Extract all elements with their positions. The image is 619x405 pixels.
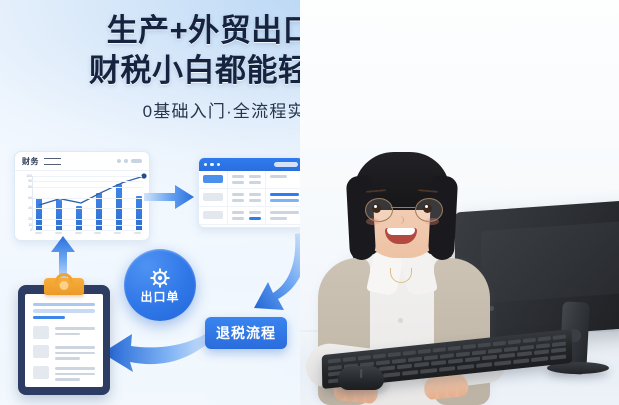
y-tick-label: 10 [21, 223, 32, 227]
dot-icon [117, 159, 121, 163]
paper-line [55, 367, 95, 370]
paper-line [55, 327, 95, 330]
keyboard-key [482, 355, 497, 361]
chart-plot: 0102040608090100 [32, 176, 144, 230]
text-line [232, 181, 244, 184]
keyboard-key [373, 353, 386, 358]
gear-target-icon [149, 267, 171, 289]
y-tick-label: 0 [21, 228, 32, 232]
keyboard-key [392, 358, 406, 364]
keyboard-key [478, 342, 491, 347]
x-tick [55, 232, 62, 234]
grid-line [33, 208, 142, 209]
keyboard-key [408, 356, 422, 362]
hamburger-rule-icon [44, 158, 61, 165]
chart-card-header: 财务 [15, 152, 149, 171]
paper-progress-line [33, 316, 65, 319]
keyboard-key [433, 347, 446, 352]
table-cell [228, 189, 266, 207]
text-line [232, 175, 244, 178]
text-line [249, 181, 261, 184]
keyboard-key [328, 358, 341, 363]
keyboard-key [397, 364, 412, 370]
clipboard-paper [25, 294, 103, 387]
keyboard-key [534, 350, 549, 356]
keyboard-key [418, 349, 431, 354]
teeth [387, 228, 415, 235]
paper-line [55, 333, 80, 336]
placeholder-chip [203, 193, 223, 201]
grid-line [33, 219, 142, 220]
text-line [270, 217, 288, 220]
browser-table-grid [199, 171, 303, 225]
paper-text-block [55, 345, 95, 360]
keyboard-key [550, 354, 567, 360]
paper-line [55, 352, 95, 355]
grid-line [33, 230, 142, 231]
keyboard-key [531, 356, 548, 362]
chart-plot-area: 0102040608090100 [15, 171, 149, 241]
poster-canvas: 生产+外贸出口退税实战课程, 财税小白都能轻松掌握退税技能 0基础入门·全流程实… [0, 0, 619, 405]
grid-line [33, 225, 142, 226]
keyboard-key [494, 360, 511, 366]
table-cell [266, 207, 304, 225]
finance-chart-card[interactable]: 财务 0102040608090100 [14, 151, 150, 241]
keyboard-key [520, 345, 534, 351]
keyboard-key [552, 341, 566, 347]
paper-line [55, 357, 80, 360]
shirt-button [398, 318, 403, 323]
grid-line [33, 181, 142, 182]
keyboard-key [328, 365, 342, 371]
tax-refund-process-button[interactable]: 退税流程 [205, 317, 287, 349]
grid-line [33, 176, 142, 177]
dot-icon [124, 159, 128, 163]
monitor-inset-panel [481, 221, 619, 303]
keyboard-key [553, 335, 566, 340]
browser-window-card[interactable] [198, 157, 304, 228]
traffic-light-icon [204, 163, 207, 166]
grid-line [33, 198, 142, 199]
table-cell [199, 171, 228, 189]
glasses-bridge [391, 207, 415, 208]
keyboard-key [465, 357, 480, 363]
table-cell [228, 171, 266, 189]
grid-line [33, 187, 142, 188]
bar-dot-icon [131, 159, 142, 163]
eye-left [372, 204, 381, 213]
keyboard-key [343, 357, 356, 362]
paper-thumb [33, 366, 49, 379]
keyboard-key [493, 341, 506, 346]
arrow-curve-left-icon [100, 328, 222, 374]
text-line [232, 199, 244, 202]
y-tick-label: 20 [21, 217, 32, 221]
x-tick [75, 232, 82, 234]
y-tick-label: 80 [21, 185, 32, 189]
keyboard-key [440, 353, 454, 359]
keyboard-key [448, 346, 461, 351]
x-tick [134, 232, 141, 234]
chart-card-status-dots [117, 159, 142, 163]
arrow-right-icon [143, 182, 195, 212]
chart-card-title: 财务 [22, 156, 39, 167]
keyboard-key [384, 372, 401, 378]
keyboard-key [402, 370, 419, 376]
keyboard-key [488, 348, 502, 354]
keyboard-key [508, 339, 521, 344]
text-line [249, 199, 261, 202]
highlight-line [270, 199, 300, 202]
table-cell [199, 207, 228, 225]
paper-line [33, 309, 95, 312]
highlight-line [270, 193, 300, 196]
keyboard-key [499, 353, 514, 359]
paper-line [33, 303, 95, 306]
table-cell [228, 207, 266, 225]
table-cell [199, 189, 228, 207]
keyboard-key [358, 355, 371, 360]
paper-thumb [33, 345, 49, 358]
keyboard-key [439, 366, 456, 372]
text-line [249, 193, 261, 196]
keyboard-key [476, 362, 493, 368]
text-line [249, 211, 261, 214]
traffic-light-icon [217, 163, 220, 166]
keyboard-key [388, 352, 401, 357]
text-line [232, 211, 244, 214]
paper-row [33, 366, 95, 381]
eye-right [423, 204, 432, 213]
keyboard-key [551, 348, 566, 354]
x-tick [114, 232, 121, 234]
table-cell [266, 171, 304, 189]
placeholder-chip [203, 211, 223, 219]
cheek-right [425, 218, 439, 225]
keyboard-key [472, 350, 486, 356]
paper-row [33, 345, 95, 360]
paper-text-block [55, 366, 95, 381]
table-cell [266, 189, 304, 207]
text-line [270, 175, 288, 178]
keyboard-key [504, 346, 518, 352]
paper-line [55, 346, 95, 349]
keyboard-key [536, 343, 550, 349]
browser-title-bar [199, 158, 303, 171]
keyboard-key [414, 362, 429, 368]
text-line [270, 211, 300, 214]
paper-line [55, 373, 95, 376]
paper-thumb [33, 326, 49, 339]
x-tick [35, 232, 42, 234]
x-tick [94, 232, 101, 234]
keyboard-key [457, 364, 474, 370]
keyboard-key [538, 336, 551, 341]
y-tick-label: 60 [21, 196, 32, 200]
highlight-line [249, 217, 261, 220]
traffic-light-icon [210, 163, 213, 166]
text-line [232, 193, 244, 196]
highlight-chip [203, 175, 223, 183]
infographic-panel: 财务 0102040608090100 [0, 138, 330, 405]
clipboard-clip [44, 278, 84, 295]
paper-text-block [55, 326, 95, 335]
paper-line [55, 378, 80, 381]
chart-trend-line [36, 176, 146, 230]
export-order-badge-label: 出口单 [140, 290, 179, 304]
keyboard-key [463, 344, 476, 349]
keyboard-key [376, 360, 390, 366]
keyboard-key [420, 368, 437, 374]
export-order-badge[interactable]: 出口单 [124, 249, 196, 321]
clipboard-document-icon[interactable] [18, 285, 110, 395]
keyboard-key [517, 351, 532, 357]
paper-row [33, 326, 95, 339]
keyboard-key [513, 358, 530, 364]
y-tick-label: 40 [21, 206, 32, 210]
keyboard-key [424, 355, 438, 361]
cheek-left [366, 218, 380, 225]
keyboard-key [431, 360, 446, 366]
keyboard-key [523, 338, 536, 343]
keyboard-key [448, 359, 463, 365]
text-line [249, 175, 261, 178]
workspace-scene [300, 0, 619, 405]
mouse [338, 366, 384, 390]
y-tick-label: 90 [21, 179, 32, 183]
keyboard-key [379, 366, 394, 372]
keyboard-key [403, 350, 416, 355]
keyboard-key [456, 351, 470, 357]
text-line [232, 217, 244, 220]
nose [396, 216, 404, 224]
address-bar-pill [274, 162, 298, 167]
y-tick-label: 100 [21, 174, 32, 178]
